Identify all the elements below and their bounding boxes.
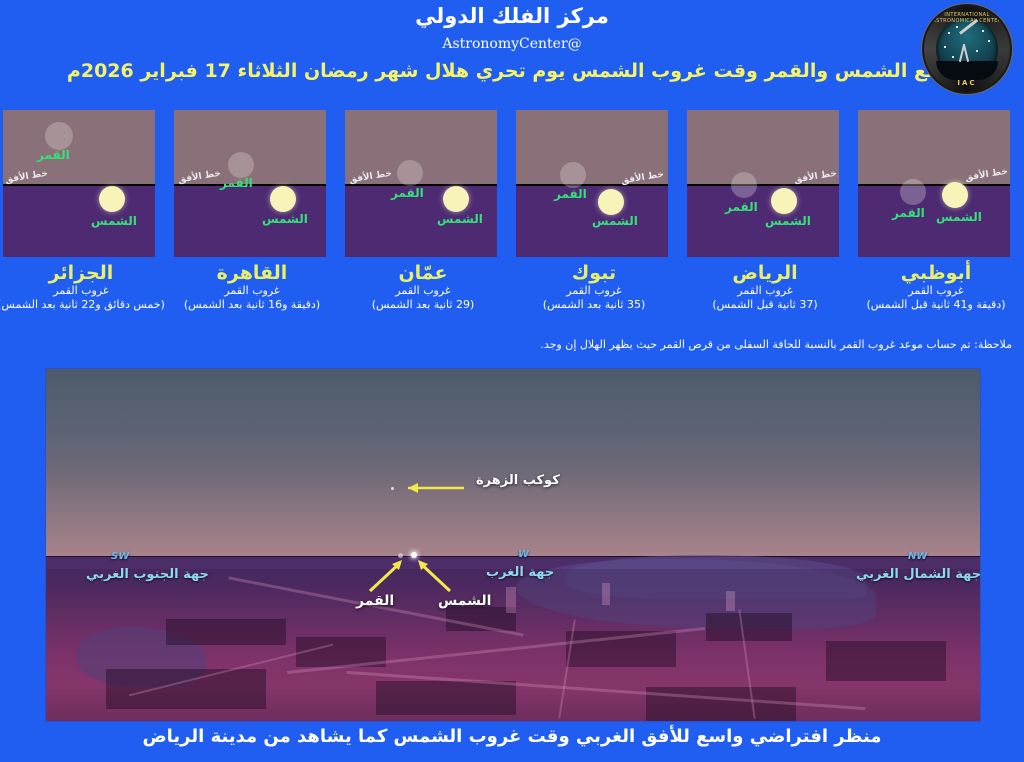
- city-name: تبوك: [509, 262, 679, 284]
- venus-label: كوكب الزهرة: [476, 473, 560, 488]
- city-panels-row: خط الأفق القمر الشمس خط الأفق القمر الشم…: [0, 108, 1024, 258]
- city-name: أبوظبي: [851, 262, 1021, 284]
- sun-disc: [771, 188, 797, 214]
- panel-riyadh: خط الأفق القمر الشمس: [685, 108, 841, 259]
- moon-disc: [900, 179, 926, 205]
- direction-abbr-w: W: [518, 549, 529, 560]
- logo-abbr: IAC: [924, 79, 1010, 87]
- direction-abbr-sw: SW: [111, 551, 129, 562]
- footer-caption: منظر افتراضي واسع للأفق الغربي وقت غروب …: [0, 726, 1024, 747]
- city-block: [376, 681, 516, 715]
- moon-disc: [228, 152, 254, 178]
- city-name: الرياض: [680, 262, 850, 284]
- panel-algiers: خط الأفق القمر الشمس: [1, 108, 157, 259]
- venus-dot: [391, 487, 394, 490]
- star-icon: [944, 46, 946, 48]
- moon-disc: [45, 122, 73, 150]
- moon-label: القمر: [37, 148, 70, 162]
- panel-cairo: خط الأفق القمر الشمس: [172, 108, 328, 259]
- city-detail: (دقيقة و41 ثانية قبل الشمس): [851, 298, 1021, 312]
- moon-disc: [731, 172, 757, 198]
- iac-logo: INTERNATIONAL ASTRONOMICAL CENTER IAC: [924, 6, 1010, 92]
- direction-label-sw: جهة الجنوب الغربي: [86, 567, 209, 582]
- city-detail: (دقيقة و16 ثانية بعد الشمس): [167, 298, 337, 312]
- caption-abudhabi: أبوظبي غروب القمر (دقيقة و41 ثانية قبل ا…: [851, 262, 1021, 312]
- panel-ground: [687, 184, 839, 258]
- city-event: غروب القمر: [167, 284, 337, 298]
- tower: [726, 591, 735, 611]
- city-block: [826, 641, 946, 681]
- panel-tabuk: خط الأفق القمر الشمس: [514, 108, 670, 259]
- panorama-sky: [46, 369, 980, 556]
- page-title: وضع الشمس والقمر وقت غروب الشمس يوم تحري…: [0, 60, 1024, 82]
- logo-arc-text: INTERNATIONAL ASTRONOMICAL CENTER: [924, 12, 1010, 24]
- sun-label: الشمس: [936, 210, 982, 224]
- caption-amman: عمّان غروب القمر (29 ثانية بعد الشمس): [338, 262, 508, 312]
- panorama-horizon-line: [46, 556, 980, 557]
- city-name: القاهرة: [167, 262, 337, 284]
- moon-label: القمر: [554, 187, 587, 201]
- logo-ground: [936, 61, 998, 80]
- sun-label: الشمس: [91, 214, 137, 228]
- direction-abbr-nw: NW: [908, 551, 927, 562]
- city-event: غروب القمر: [680, 284, 850, 298]
- city-block: [106, 669, 266, 709]
- moon-disc: [560, 162, 586, 188]
- panel-amman: خط الأفق القمر الشمس: [343, 108, 499, 259]
- horizon-line: [516, 184, 668, 186]
- star-icon: [988, 40, 990, 42]
- city-block: [646, 687, 796, 721]
- moon-label: القمر: [391, 186, 424, 200]
- star-icon: [982, 30, 984, 32]
- star-icon: [948, 32, 950, 34]
- caption-riyadh: الرياض غروب القمر (37 ثانية قبل الشمس): [680, 262, 850, 312]
- city-block: [706, 613, 792, 641]
- moon-label: القمر: [892, 206, 925, 220]
- moon-label: القمر: [220, 176, 253, 190]
- moon-arrow-icon: [364, 557, 408, 593]
- star-icon: [956, 26, 958, 28]
- sun-disc: [598, 189, 624, 215]
- sun-label: الشمس: [262, 212, 308, 226]
- panorama-image: كوكب الزهرة القمر الشمس SW جهة الجنوب ال…: [45, 368, 981, 722]
- horizon-line: [3, 184, 155, 186]
- city-name: الجزائر: [0, 262, 166, 284]
- sun-disc: [942, 182, 968, 208]
- star-icon: [952, 56, 954, 58]
- note-text: ملاحظة: تم حساب موعد غروب القمر بالنسبة …: [12, 338, 1012, 351]
- venus-arrow-icon: [396, 481, 466, 495]
- sun-label: الشمس: [765, 214, 811, 228]
- caption-tabuk: تبوك غروب القمر (35 ثانية بعد الشمس): [509, 262, 679, 312]
- moon-label: القمر: [725, 200, 758, 214]
- panorama-moon-label: القمر: [356, 593, 394, 609]
- horizon-line: [858, 184, 1010, 186]
- city-detail: (خمس دقائق و22 ثانية بعد الشمس): [0, 298, 166, 312]
- city-detail: (35 ثانية بعد الشمس): [509, 298, 679, 312]
- city-detail: (37 ثانية قبل الشمس): [680, 298, 850, 312]
- star-icon: [976, 50, 978, 52]
- direction-label-nw: جهة الشمال الغربي: [856, 567, 981, 582]
- direction-label-w: جهة الغرب: [486, 565, 554, 580]
- panel-ground: [858, 184, 1010, 258]
- panel-abudhabi: خط الأفق القمر الشمس: [856, 108, 1012, 259]
- city-name: عمّان: [338, 262, 508, 284]
- panorama-sun-label: الشمس: [438, 593, 491, 609]
- city-event: غروب القمر: [338, 284, 508, 298]
- brand-handle: @AstronomyCenter: [0, 36, 1024, 52]
- caption-algiers: الجزائر غروب القمر (خمس دقائق و22 ثانية …: [0, 262, 166, 312]
- sun-disc: [443, 186, 469, 212]
- tower: [602, 583, 610, 605]
- moon-disc: [397, 160, 423, 186]
- city-event: غروب القمر: [0, 284, 166, 298]
- sun-disc: [99, 186, 125, 212]
- sun-disc: [270, 186, 296, 212]
- city-detail: (29 ثانية بعد الشمس): [338, 298, 508, 312]
- city-event: غروب القمر: [851, 284, 1021, 298]
- header: مركز الفلك الدولي @AstronomyCenter وضع ا…: [0, 0, 1024, 100]
- caption-cairo: القاهرة غروب القمر (دقيقة و16 ثانية بعد …: [167, 262, 337, 312]
- brand-name: مركز الفلك الدولي: [0, 4, 1024, 28]
- city-captions-row: أبوظبي غروب القمر (دقيقة و41 ثانية قبل ا…: [0, 262, 1024, 322]
- sun-arrow-icon: [412, 557, 456, 593]
- tower: [506, 587, 516, 613]
- city-event: غروب القمر: [509, 284, 679, 298]
- sun-label: الشمس: [437, 212, 483, 226]
- sun-label: الشمس: [592, 214, 638, 228]
- horizon-line: [687, 184, 839, 186]
- city-block: [166, 619, 286, 645]
